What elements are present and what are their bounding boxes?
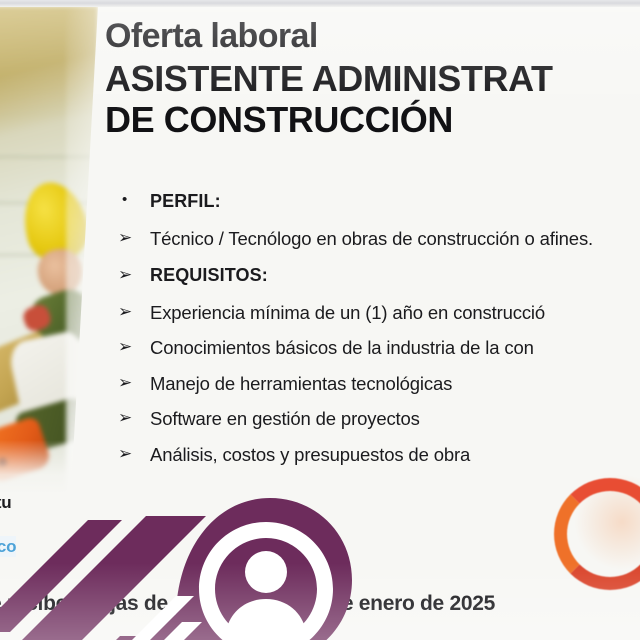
job-offer-poster: Oferta laboral ASISTENTE ADMINISTRAT DE …	[0, 0, 640, 640]
photo-edge-fade	[66, 6, 98, 493]
list-item-label: Manejo de herramientas tecnológicas	[150, 372, 452, 396]
arrow-bullet-icon: ➢	[112, 264, 150, 286]
contact-line-1: nvía tu	[0, 492, 108, 514]
poster-eyebrow-title: Oferta laboral	[105, 18, 640, 55]
arrow-bullet-icon: ➢	[112, 443, 150, 465]
list-item: ➢ Análisis, costos y presupuestos de obr…	[112, 443, 640, 467]
scan-top-edge	[0, 0, 640, 7]
job-title-line-1: ASISTENTE ADMINISTRAT	[105, 58, 640, 99]
list-item: ➢ Experiencia mínima de un (1) año en co…	[112, 301, 640, 325]
list-item-label: Conocimientos básicos de la industria de…	[150, 336, 534, 360]
list-item: • PERFIL:	[112, 190, 640, 214]
construction-worker-photo	[0, 6, 98, 493]
list-item: ➢ Técnico / Tecnólogo en obras de constr…	[112, 227, 640, 251]
contact-email-link[interactable]: com.co	[0, 536, 16, 558]
contact-line-2: rreo	[0, 514, 108, 536]
bullet-dot-icon: •	[112, 190, 150, 210]
list-item: ➢ Conocimientos básicos de la industria …	[112, 336, 640, 360]
list-item-label: REQUISITOS:	[150, 264, 268, 288]
photo-bottom-fade	[0, 440, 104, 496]
list-item: ➢ Manejo de herramientas tecnológicas	[112, 372, 640, 396]
list-item: ➢ Software en gestión de proyectos	[112, 407, 640, 431]
list-item-label: Experiencia mínima de un (1) año en cons…	[150, 301, 545, 325]
job-title-line-2: DE CONSTRUCCIÓN	[105, 99, 640, 140]
requirements-list: • PERFIL: ➢ Técnico / Tecnólogo en obras…	[112, 190, 640, 478]
arrow-bullet-icon: ➢	[112, 407, 150, 429]
list-item-label: Técnico / Tecnólogo en obras de construc…	[150, 227, 640, 251]
arrow-bullet-icon: ➢	[112, 372, 150, 394]
list-item-label: Análisis, costos y presupuestos de obra	[150, 443, 470, 467]
orange-ring-logo	[554, 478, 640, 590]
list-item-label: Software en gestión de proyectos	[150, 407, 420, 431]
arrow-bullet-icon: ➢	[112, 301, 150, 323]
list-item: ➢ REQUISITOS:	[112, 264, 640, 288]
arrow-bullet-icon: ➢	[112, 336, 150, 358]
poster-heading-block: Oferta laboral ASISTENTE ADMINISTRAT DE …	[105, 18, 640, 140]
contact-instructions: nvía tu rreo com.co	[0, 492, 108, 557]
list-item-label: PERFIL:	[150, 190, 221, 214]
arrow-bullet-icon: ➢	[112, 227, 150, 249]
application-deadline-text: e reciben hojas de vida hasta el 17 de e…	[0, 592, 495, 616]
